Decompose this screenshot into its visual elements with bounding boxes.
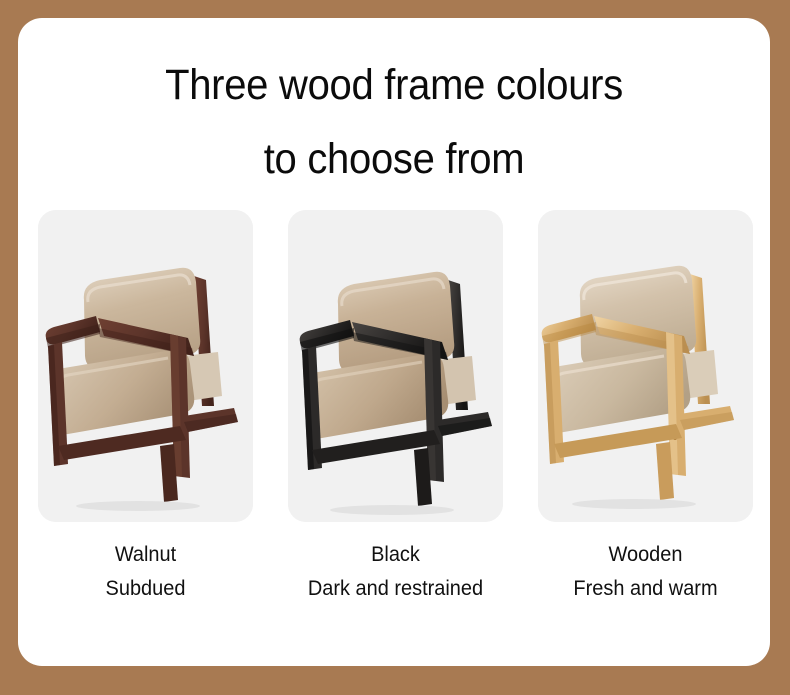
- heading-line-1: Three wood frame colours: [44, 48, 743, 122]
- caption-walnut: Walnut Subdued: [38, 538, 253, 606]
- caption-wooden: Wooden Fresh and warm: [538, 538, 753, 606]
- content-card: Three wood frame colours to choose from: [18, 18, 770, 666]
- armchair-natural-wood-frame-photo: [538, 210, 753, 522]
- promo-banner: Three wood frame colours to choose from: [0, 0, 790, 695]
- page-title: Three wood frame colours to choose from: [18, 48, 770, 196]
- product-panel-walnut[interactable]: [38, 210, 253, 522]
- caption-sub-black: Dark and restrained: [293, 572, 497, 606]
- caption-sub-walnut: Subdued: [43, 572, 247, 606]
- caption-title-walnut: Walnut: [43, 538, 247, 572]
- product-caption-row: Walnut Subdued Black Dark and restrained…: [38, 538, 753, 606]
- heading-line-2: to choose from: [44, 122, 743, 196]
- armchair-black-frame-photo: [288, 210, 503, 522]
- product-panel-black[interactable]: [288, 210, 503, 522]
- caption-title-wooden: Wooden: [543, 538, 747, 572]
- caption-black: Black Dark and restrained: [288, 538, 503, 606]
- caption-title-black: Black: [293, 538, 497, 572]
- armchair-walnut-frame-photo: [38, 210, 253, 522]
- caption-sub-wooden: Fresh and warm: [543, 572, 747, 606]
- product-image-row: [38, 210, 753, 522]
- product-panel-wooden[interactable]: [538, 210, 753, 522]
